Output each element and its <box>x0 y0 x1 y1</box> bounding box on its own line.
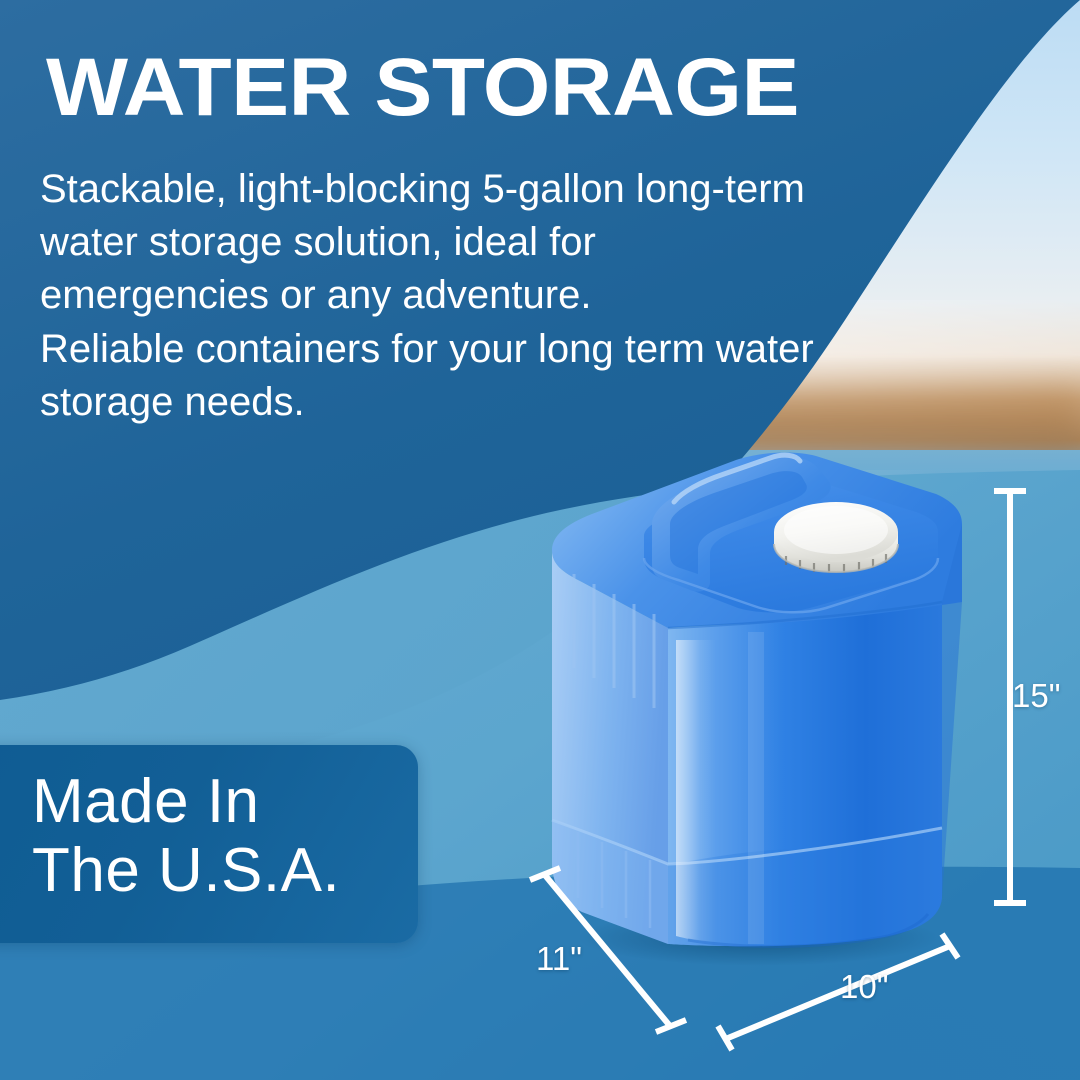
dimension-depth-label: 11" <box>536 940 582 978</box>
made-in-usa-label: Made In The U.S.A. <box>32 767 340 906</box>
dimension-height-label: 15" <box>1012 677 1060 715</box>
description-paragraph-2: Reliable containers for your long term w… <box>40 323 820 429</box>
dimension-width: 10" <box>718 930 968 1050</box>
dimension-depth: 11" <box>530 866 690 1036</box>
dimension-width-label: 10" <box>840 968 888 1006</box>
infographic-canvas: WATER STORAGE Stackable, light-blocking … <box>0 0 1080 1080</box>
page-title: WATER STORAGE <box>46 47 979 129</box>
product-description: Stackable, light-blocking 5-gallon long-… <box>40 163 820 429</box>
dimension-height: 15" <box>990 487 1030 907</box>
description-paragraph-1: Stackable, light-blocking 5-gallon long-… <box>40 163 820 323</box>
made-in-usa-badge: Made In The U.S.A. <box>0 745 418 943</box>
